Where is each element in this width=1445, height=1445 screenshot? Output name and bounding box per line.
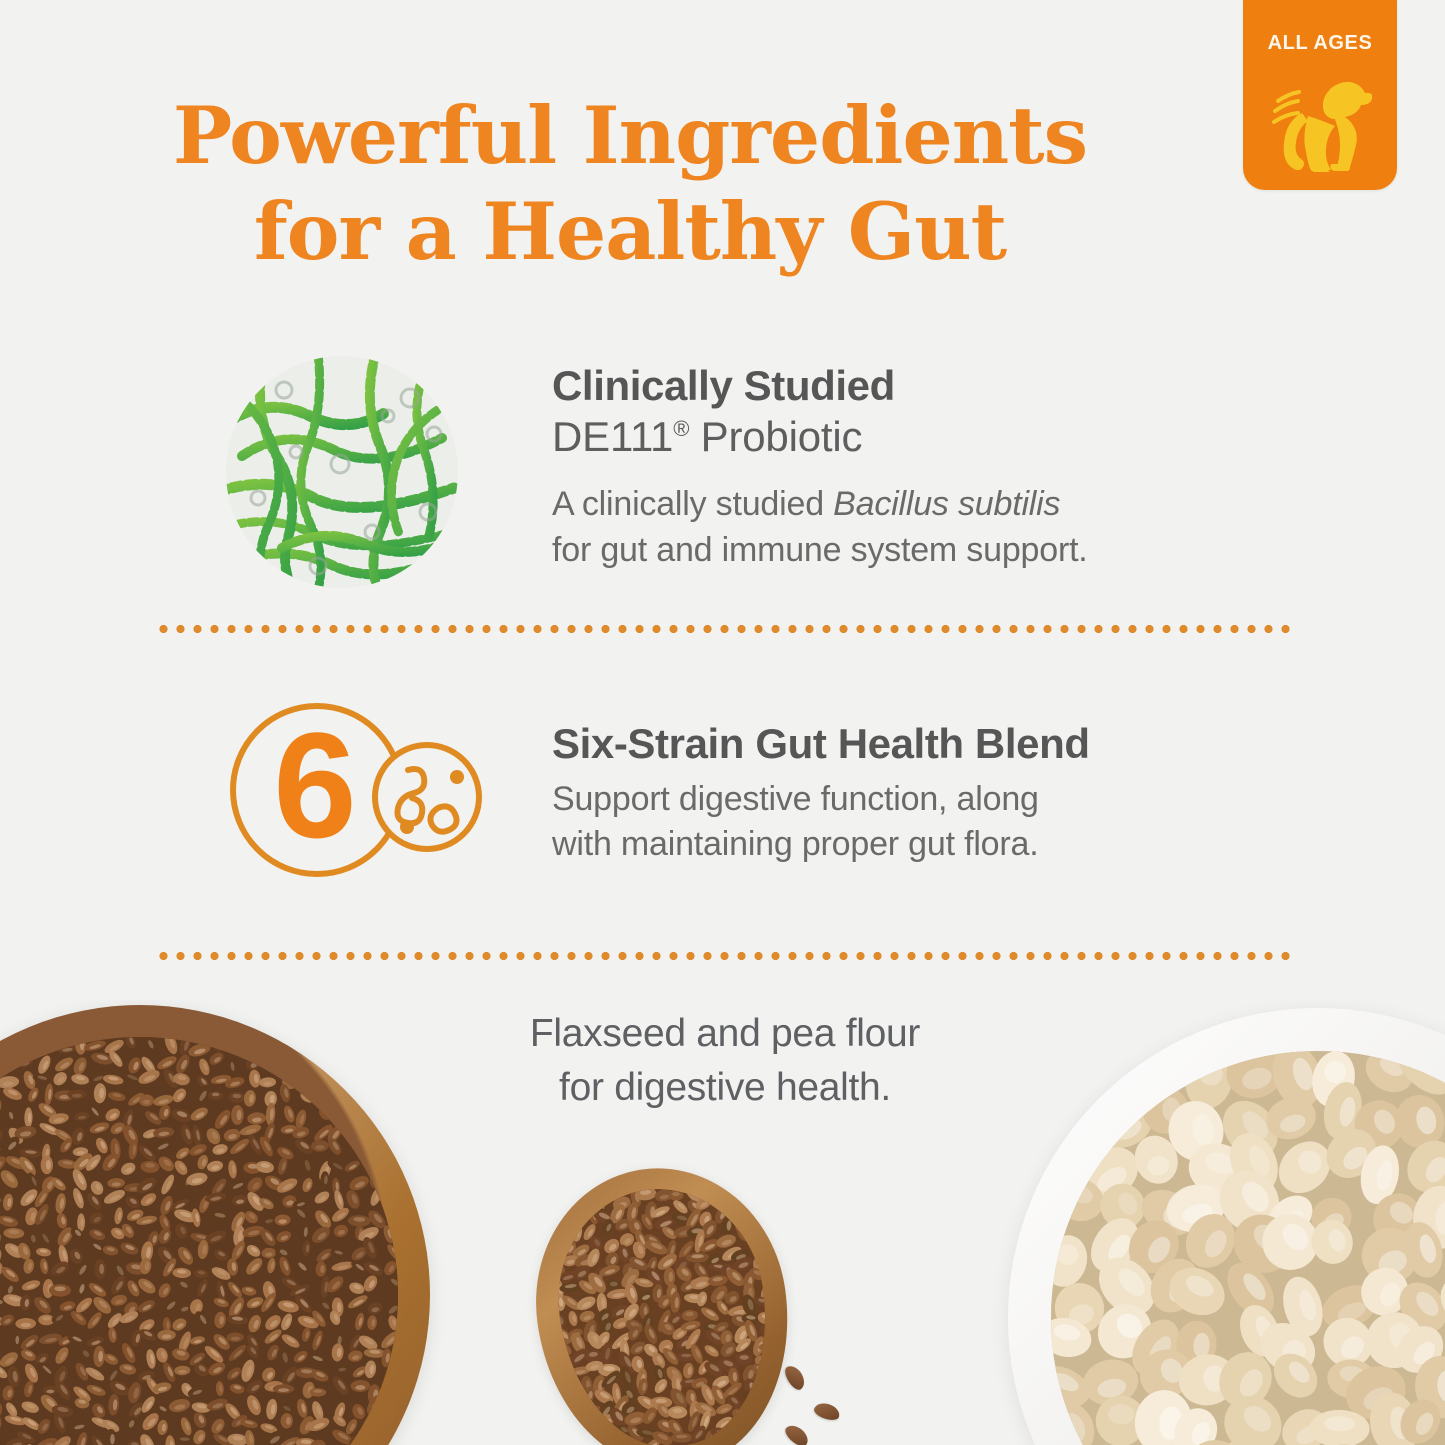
six-strain-bacteria-icon: 6 [222,700,492,880]
probiotic-text: Probiotic [689,413,862,460]
sitting-dog-icon [1268,61,1372,178]
page-title: Powerful Ingredients for a Healthy Gut [0,88,1260,281]
chickpea-texture [1051,1051,1445,1445]
flaxseed-texture [0,1037,398,1445]
title-line-2: for a Healthy Gut [0,184,1260,280]
feature-1-body-prefix: A clinically studied [552,485,833,523]
wooden-spoon-of-flaxseed-photo [518,1152,807,1445]
all-ages-badge: ALL AGES [1243,0,1397,190]
spoon-flaxseed-texture [544,1176,783,1445]
feature-1-heading-strong: Clinically Studied [552,360,1252,411]
de111-text: DE111 [552,413,673,460]
chickpea-bowl-contents [1051,1051,1445,1445]
flaxseed-bowl-contents [0,1037,398,1445]
feature-1-heading-light: DE111® Probiotic [552,411,1252,462]
feature-1-text: Clinically Studied DE111® Probiotic A cl… [552,352,1252,573]
feature-2-body-line2: with maintaining proper gut flora. [552,825,1038,863]
feature-1-body-italic: Bacillus subtilis [833,485,1060,523]
ingredient-photos [0,1000,1445,1445]
spoon-flaxseed-contents [544,1176,783,1445]
feature-2-heading: Six-Strain Gut Health Blend [552,718,1262,769]
scattered-flaxseeds [782,1370,872,1445]
registered-mark-icon: ® [673,416,689,441]
white-bowl-of-chickpeas-photo [1008,1008,1445,1445]
feature-1-body: A clinically studied Bacillus subtilis f… [552,482,1252,572]
feature-2-body-line1: Support digestive function, along [552,780,1039,818]
wooden-bowl-of-flaxseed-photo [0,1005,430,1445]
divider-2 [155,952,1290,960]
feature-2-text: Six-Strain Gut Health Blend Support dige… [552,700,1262,868]
feature-six-strain-blend: 6 Six-Strain Gut Health Blend Support di… [222,700,1262,880]
title-line-1: Powerful Ingredients [0,88,1260,184]
microscope-bacteria-photo-icon [222,352,462,592]
feature-1-body-line2: for gut and immune system support. [552,531,1088,569]
feature-clinically-studied: Clinically Studied DE111® Probiotic A cl… [222,352,1252,592]
divider-1 [155,625,1290,633]
six-number: 6 [273,701,356,869]
feature-2-body: Support digestive function, along with m… [552,777,1262,867]
all-ages-label: ALL AGES [1268,32,1373,55]
